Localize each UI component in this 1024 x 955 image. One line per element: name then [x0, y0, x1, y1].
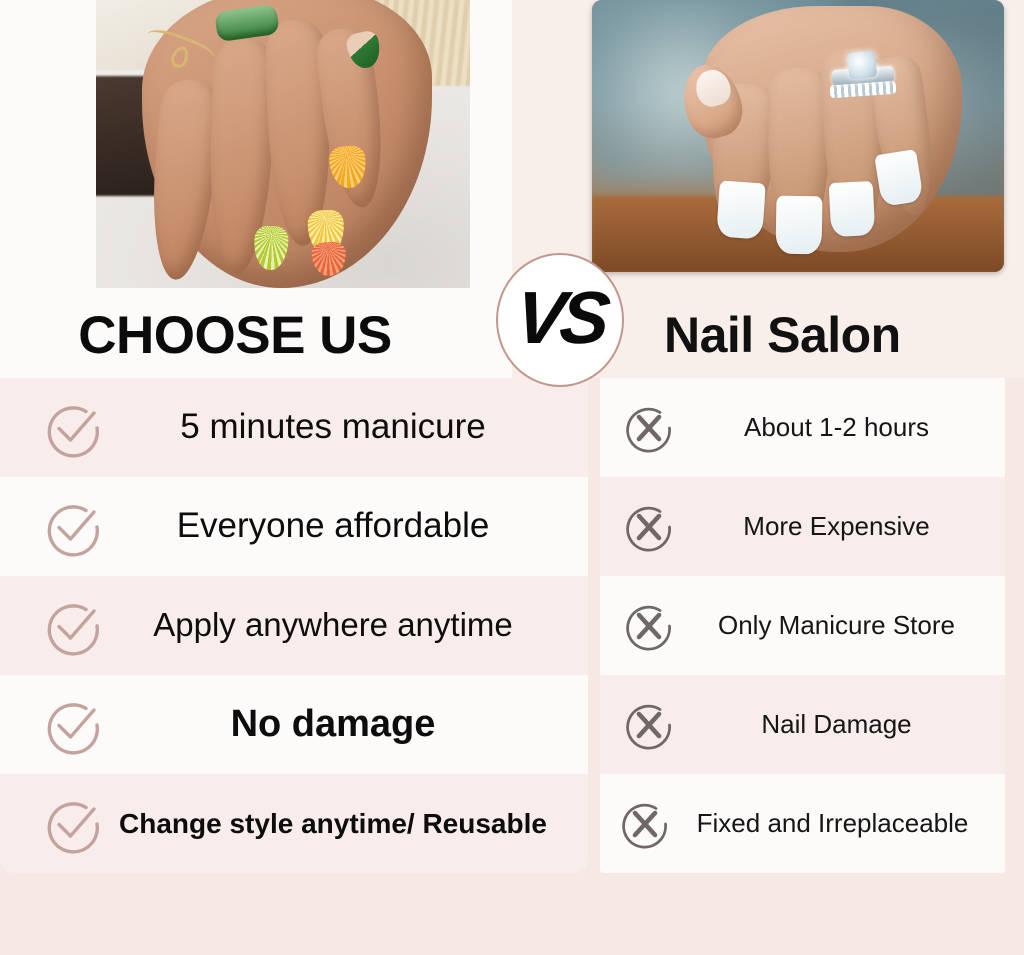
list-item: Only Manicure Store: [600, 576, 1005, 675]
list-item: Nail Damage: [600, 675, 1005, 774]
list-item: About 1-2 hours: [600, 378, 1005, 477]
list-item: 5 minutes manicure: [0, 378, 588, 477]
x-circle-icon: [622, 500, 676, 554]
list-item: Fixed and Irreplaceable: [600, 774, 1005, 873]
list-item-label: No damage: [104, 705, 588, 745]
x-circle-icon: [622, 698, 676, 752]
list-item: Apply anywhere anytime: [0, 576, 588, 675]
check-circle-icon: [42, 694, 104, 756]
check-circle-icon: [42, 595, 104, 657]
list-item: Everyone affordable: [0, 477, 588, 576]
nail-salon-feature-list: About 1-2 hours More Expensive Only: [600, 378, 1005, 873]
list-item: More Expensive: [600, 477, 1005, 576]
nail-salon-photo: [592, 0, 1004, 272]
list-item-label: More Expensive: [676, 513, 1005, 540]
list-item-label: Apply anywhere anytime: [104, 608, 588, 643]
check-circle-icon: [42, 496, 104, 558]
check-circle-icon: [42, 397, 104, 459]
list-item-label: Change style anytime/ Reusable: [104, 809, 588, 838]
x-circle-icon: [622, 599, 676, 653]
page-title-right: Nail Salon: [600, 294, 1000, 376]
comparison-infographic: CHOOSE US Nail Salon VS 5 minutes manicu…: [0, 0, 1024, 955]
page-title-left: CHOOSE US: [0, 294, 470, 376]
list-item-label: Everyone affordable: [104, 508, 588, 545]
list-item-label: 5 minutes manicure: [104, 409, 588, 446]
vs-badge: VS: [496, 253, 624, 387]
list-item-label: About 1-2 hours: [676, 414, 1005, 441]
list-item: No damage: [0, 675, 588, 774]
list-item-label: Nail Damage: [676, 711, 1005, 738]
x-circle-icon: [622, 401, 676, 455]
press-on-nails-photo: [96, 0, 470, 288]
list-item-label: Only Manicure Store: [676, 612, 1005, 639]
list-item-label: Fixed and Irreplaceable: [668, 810, 1005, 837]
vs-label: VS: [512, 281, 608, 355]
list-item: Change style anytime/ Reusable: [0, 774, 588, 873]
choose-us-feature-list: 5 minutes manicure Everyone affordable A…: [0, 378, 588, 873]
check-circle-icon: [42, 793, 104, 855]
x-circle-icon: [618, 797, 672, 851]
